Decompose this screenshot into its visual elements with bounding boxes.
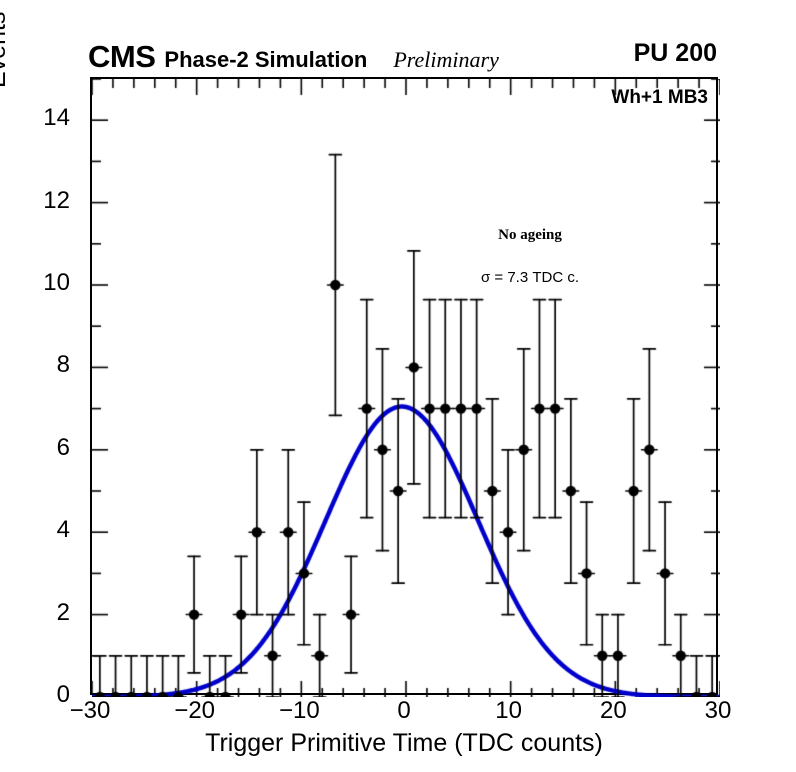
ageing-label: No ageing xyxy=(498,227,562,244)
y-tick-label: 12 xyxy=(10,189,70,213)
x-tick-label: 20 xyxy=(573,699,653,723)
x-axis-title: Trigger Primitive Time (TDC counts) xyxy=(90,729,718,758)
y-tick-label: 4 xyxy=(10,518,70,542)
plot-frame: Wh+1 MB3 No ageing σ = 7.3 TDC c. xyxy=(90,77,718,695)
pileup-label: PU 200 xyxy=(634,41,717,66)
plot-canvas xyxy=(92,79,720,697)
x-tick-label: 10 xyxy=(469,699,549,723)
simulation-label: Phase-2 Simulation xyxy=(164,49,367,71)
plot-root: CMS Phase-2 Simulation Preliminary PU 20… xyxy=(0,0,796,772)
y-tick-label: 10 xyxy=(10,271,70,295)
y-tick-label: 8 xyxy=(10,353,70,377)
y-tick-label: 14 xyxy=(10,106,70,130)
y-tick-label: 6 xyxy=(10,436,70,460)
plot-header: CMS Phase-2 Simulation Preliminary PU 20… xyxy=(0,0,796,77)
preliminary-label: Preliminary xyxy=(393,49,499,71)
x-tick-label: −10 xyxy=(259,699,339,723)
x-tick-label: 0 xyxy=(364,699,444,723)
sigma-label: σ = 7.3 TDC c. xyxy=(481,269,579,286)
y-tick-label: 2 xyxy=(10,601,70,625)
cms-label-block: CMS Phase-2 Simulation Preliminary xyxy=(88,41,499,72)
chamber-label: Wh+1 MB3 xyxy=(611,87,708,109)
x-tick-label: −20 xyxy=(155,699,235,723)
x-tick-label: 30 xyxy=(678,699,758,723)
x-tick-label: −30 xyxy=(50,699,130,723)
y-axis-title: Events xyxy=(0,0,12,88)
cms-logo-text: CMS xyxy=(88,41,155,72)
